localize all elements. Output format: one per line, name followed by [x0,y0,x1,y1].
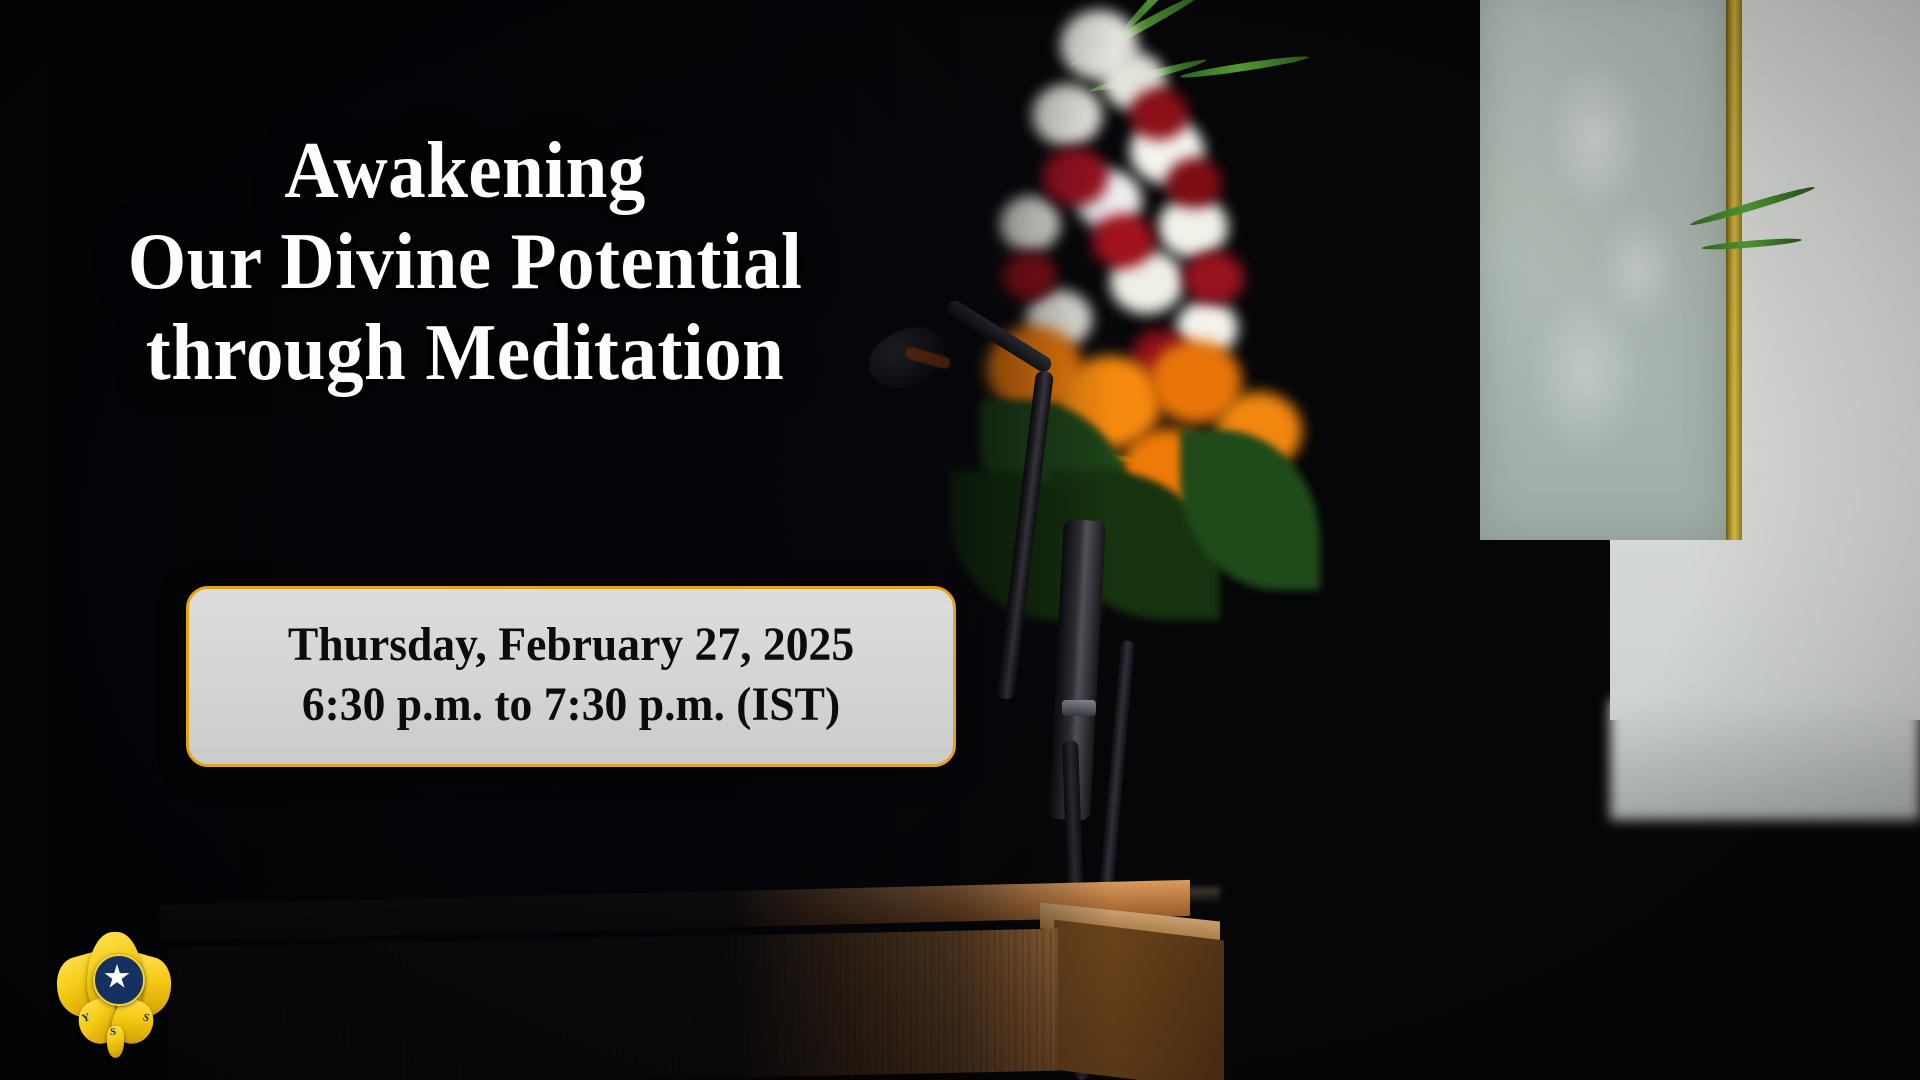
title-line-1: Awakening [28,126,902,217]
event-time: 6:30 p.m. to 7:30 p.m. (IST) [225,675,917,735]
event-banner: Awakening Our Divine Potential through M… [0,0,1920,1080]
event-date: Thursday, February 27, 2025 [225,615,917,675]
event-title: Awakening Our Divine Potential through M… [28,126,902,400]
title-line-3: through Meditation [28,308,902,399]
event-datetime-box: Thursday, February 27, 2025 6:30 p.m. to… [186,586,956,767]
logo-letter-s-bottom: S [110,1026,116,1038]
title-line-2: Our Divine Potential [28,217,902,308]
yss-lotus-logo: Y S S [57,930,175,1065]
